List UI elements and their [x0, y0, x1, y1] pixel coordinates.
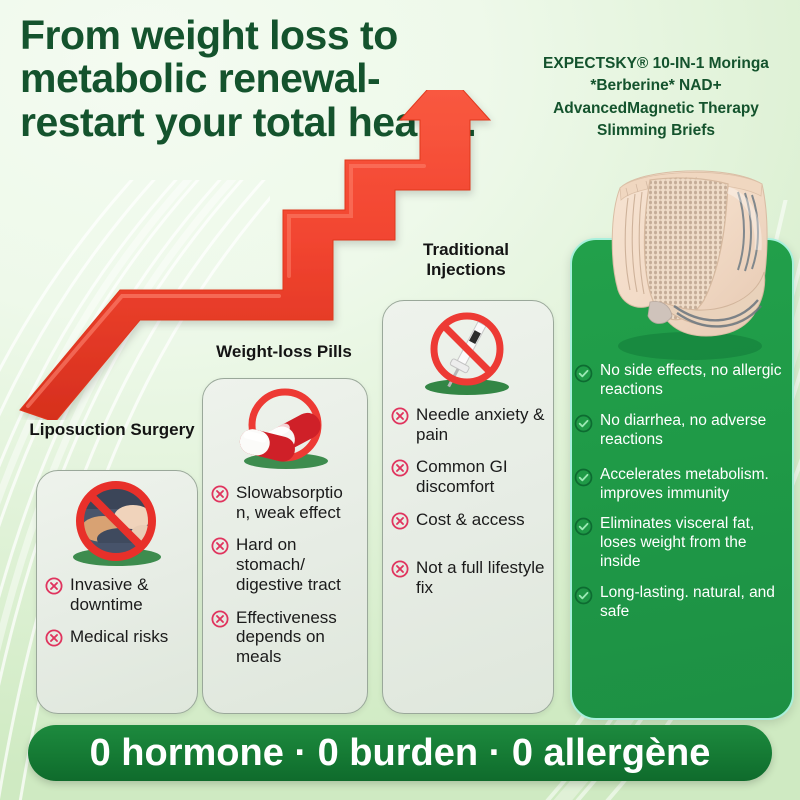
no-pills-icon	[220, 385, 350, 477]
option-label-liposuction: Liposuction Surgery	[28, 420, 196, 440]
benefit-item: Eliminates visceral fat, loses weight fr…	[574, 515, 786, 572]
bullet-list-pills: Slowabsorptio n, weak effect Hard on sto…	[203, 479, 367, 688]
no-syringe-icon	[403, 307, 533, 399]
x-mark-icon	[211, 610, 229, 628]
benefit-item: Accelerates metabolism. improves immunit…	[574, 466, 786, 504]
bullet-text: Needle anxiety & pain	[416, 405, 545, 444]
x-mark-icon	[45, 629, 63, 647]
option-label-injections: Traditional Injections	[382, 240, 550, 280]
x-mark-icon	[391, 560, 409, 578]
x-mark-icon	[391, 512, 409, 530]
benefit-text: No diarrhea, no adverse reactions	[600, 412, 786, 450]
no-surgery-icon	[59, 477, 175, 569]
slimming-briefs-photo	[578, 150, 792, 365]
bullet-item: Hard on stomach/ digestive tract	[211, 535, 359, 594]
bullet-text: Slowabsorptio n, weak effect	[236, 483, 359, 522]
option-card-injections[interactable]: Needle anxiety & pain Common GI discomfo…	[382, 300, 554, 714]
option-card-pills[interactable]: Slowabsorptio n, weak effect Hard on sto…	[202, 378, 368, 714]
bullet-text: Effectiveness depends on meals	[236, 608, 359, 667]
check-circle-icon	[574, 364, 593, 383]
infographic-canvas: From weight loss to metabolic renewal-re…	[0, 0, 800, 800]
x-mark-icon	[45, 577, 63, 595]
check-circle-icon	[574, 517, 593, 536]
benefit-item: No side effects, no allergic reactions	[574, 362, 786, 400]
bullet-text: Invasive & downtime	[70, 575, 189, 614]
product-title-line: AdvancedMagnetic Therapy	[520, 98, 792, 120]
bullet-text: Cost & access	[416, 510, 525, 530]
product-title-line: Slimming Briefs	[520, 120, 792, 142]
product-title-line: EXPECTSKY® 10-IN-1 Moringa	[520, 53, 792, 75]
bullet-item: Common GI discomfort	[391, 457, 545, 496]
benefit-list: No side effects, no allergic reactions N…	[574, 362, 786, 634]
bullet-text: Common GI discomfort	[416, 457, 545, 496]
x-mark-icon	[211, 485, 229, 503]
benefit-text: No side effects, no allergic reactions	[600, 362, 786, 400]
bullet-item: Effectiveness depends on meals	[211, 608, 359, 667]
bullet-list-liposuction: Invasive & downtime Medical risks	[37, 571, 197, 668]
bullet-item: Slowabsorptio n, weak effect	[211, 483, 359, 522]
product-title: EXPECTSKY® 10-IN-1 Moringa *Berberine* N…	[520, 53, 792, 143]
benefit-item: No diarrhea, no adverse reactions	[574, 412, 786, 450]
bullet-item: Medical risks	[45, 627, 189, 647]
bullet-item: Invasive & downtime	[45, 575, 189, 614]
product-title-line: *Berberine* NAD+	[520, 75, 792, 97]
x-mark-icon	[211, 537, 229, 555]
claims-banner-text: 0 hormone · 0 burden · 0 allergène	[90, 732, 711, 775]
benefit-item: Long-lasting. natural, and safe	[574, 584, 786, 622]
bullet-text: Hard on stomach/ digestive tract	[236, 535, 359, 594]
bullet-list-injections: Needle anxiety & pain Common GI discomfo…	[383, 401, 553, 618]
benefit-text: Eliminates visceral fat, loses weight fr…	[600, 515, 786, 572]
bullet-text: Medical risks	[70, 627, 168, 647]
option-card-liposuction[interactable]: Invasive & downtime Medical risks	[36, 470, 198, 714]
check-circle-icon	[574, 414, 593, 433]
check-circle-icon	[574, 586, 593, 605]
x-mark-icon	[391, 407, 409, 425]
bullet-item: Not a full lifestyle fix	[391, 558, 545, 597]
x-mark-icon	[391, 459, 409, 477]
option-label-pills: Weight-loss Pills	[198, 342, 370, 362]
benefit-text: Long-lasting. natural, and safe	[600, 584, 786, 622]
bullet-item: Cost & access	[391, 510, 545, 530]
benefit-text: Accelerates metabolism. improves immunit…	[600, 466, 786, 504]
check-circle-icon	[574, 468, 593, 487]
bullet-text: Not a full lifestyle fix	[416, 558, 545, 597]
bullet-item: Needle anxiety & pain	[391, 405, 545, 444]
claims-banner: 0 hormone · 0 burden · 0 allergène	[28, 725, 772, 781]
